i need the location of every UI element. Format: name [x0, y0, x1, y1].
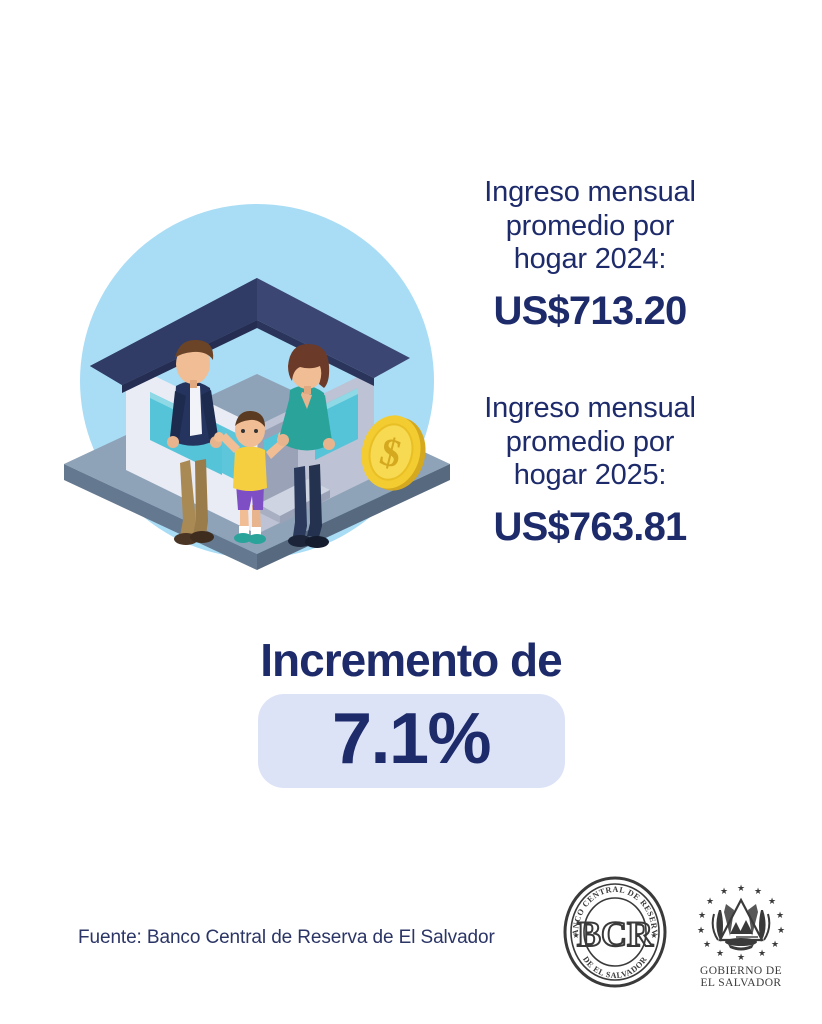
svg-text:★: ★: [703, 939, 711, 949]
svg-text:★: ★: [697, 925, 705, 935]
svg-text:★: ★: [776, 910, 784, 920]
gobierno-line-2: EL SALVADOR: [701, 977, 782, 989]
svg-text:★: ★: [720, 886, 728, 896]
woman-shoe-right: [305, 536, 329, 548]
svg-text:★: ★: [754, 886, 762, 896]
stat-label-2025: Ingreso mensual promedio por hogar 2025:: [440, 392, 740, 493]
stat-block-2024: Ingreso mensual promedio por hogar 2024:…: [440, 176, 740, 333]
svg-text:★: ★: [768, 896, 776, 906]
svg-text:★: ★: [737, 883, 745, 893]
svg-text:★: ★: [706, 896, 714, 906]
svg-text:★: ★: [737, 952, 745, 962]
increment-value: 7.1%: [332, 699, 490, 779]
bcr-star-right: ★: [650, 931, 657, 940]
gobierno-line-1: GOBIERNO DE: [700, 965, 782, 977]
increment-title: Incremento de: [0, 636, 822, 684]
infographic-page: $ Ingreso mensual promedio por hogar 202…: [0, 0, 822, 1024]
svg-text:★: ★: [698, 910, 706, 920]
bcr-star-left: ★: [572, 931, 579, 940]
svg-text:★: ★: [777, 925, 785, 935]
bcr-logo: BANCO CENTRAL DE RESERVA DE EL SALVADOR …: [562, 876, 668, 988]
stat-label-2024: Ingreso mensual promedio por hogar 2024:: [440, 176, 740, 277]
house-family-illustration: $: [62, 186, 452, 576]
increment-section: Incremento de 7.1%: [0, 636, 822, 788]
increment-badge: 7.1%: [258, 694, 565, 788]
coat-of-arms-emblem: [713, 900, 770, 951]
stat-value-2024: US$713.20: [440, 289, 740, 333]
svg-text:★: ★: [771, 939, 779, 949]
source-text: Fuente: Banco Central de Reserva de El S…: [78, 927, 495, 949]
man-shoe-right: [190, 531, 214, 543]
bcr-arc-bottom-text: DE EL SALVADOR: [581, 955, 649, 980]
stat-block-2025: Ingreso mensual promedio por hogar 2025:…: [440, 392, 740, 549]
svg-text:★: ★: [758, 948, 766, 958]
child-shoe-right: [248, 534, 266, 544]
gobierno-logo: ★ ★ ★ ★ ★ ★ ★ ★ ★ ★ ★ ★ ★ ★: [686, 880, 796, 990]
stat-value-2025: US$763.81: [440, 505, 740, 549]
svg-text:★: ★: [716, 948, 724, 958]
bcr-monogram: BCR: [577, 914, 654, 954]
